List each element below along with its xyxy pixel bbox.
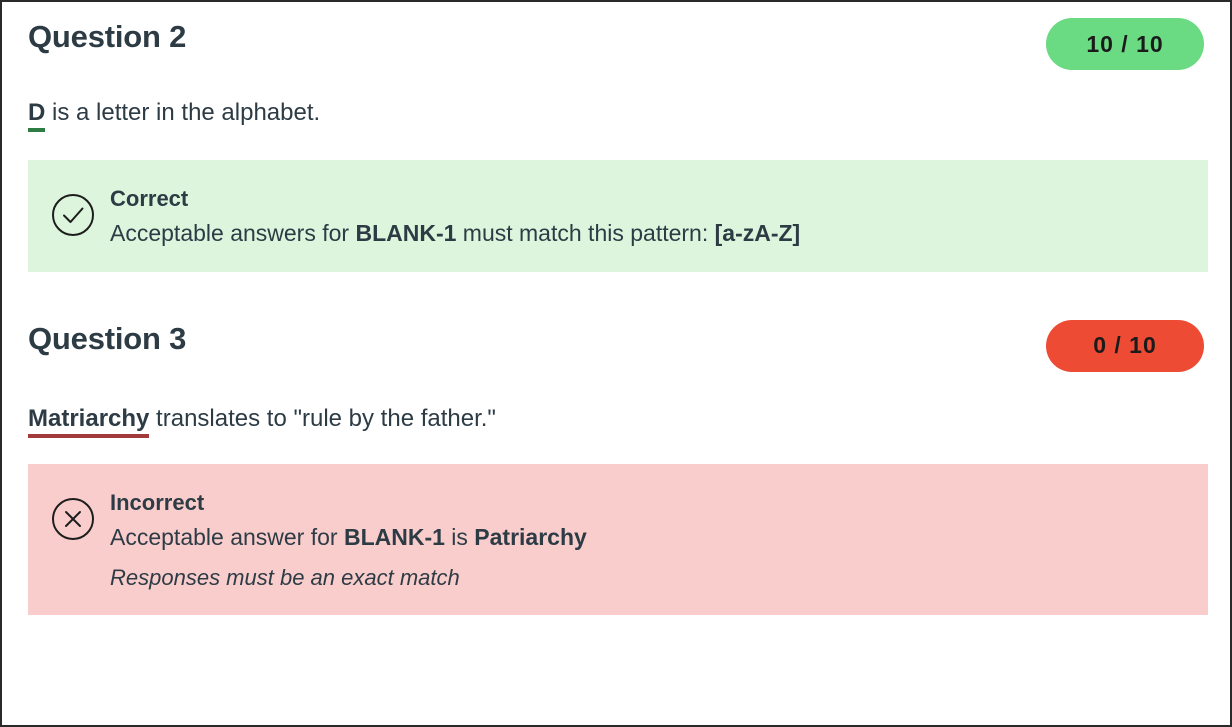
feedback-text-correct: Acceptable answers for BLANK-1 must matc… [110,217,1188,250]
feedback-blank-label-correct: BLANK-1 [355,220,456,246]
feedback-body-correct: Correct Acceptable answers for BLANK-1 m… [110,182,1188,250]
question-header-2: Question 2 10 / 10 [28,2,1204,70]
question-answer-text-2: is a letter in the alphabet. [45,99,320,126]
question-block-2: Question 2 10 / 10 D is a letter in the … [28,2,1204,272]
student-answer-blank-2: D [28,99,45,132]
question-header-3: Question 3 0 / 10 [28,320,1204,372]
feedback-body-incorrect: Incorrect Acceptable answer for BLANK-1 … [110,486,1188,594]
quiz-content: Question 2 10 / 10 D is a letter in the … [2,2,1230,615]
question-answer-3: Matriarchy translates to "rule by the fa… [28,402,1204,436]
student-answer-blank-3: Matriarchy [28,405,149,438]
quiz-results-page: Question 2 10 / 10 D is a letter in the … [0,0,1232,727]
question-block-3: Question 3 0 / 10 Matriarchy translates … [28,320,1204,615]
feedback-text-middle-incorrect: is [445,524,474,550]
x-circle-icon [50,496,96,542]
feedback-blank-label-incorrect: BLANK-1 [344,524,445,550]
feedback-title-incorrect: Incorrect [110,488,1188,518]
score-badge-question-2: 10 / 10 [1046,18,1204,70]
score-badge-question-3: 0 / 10 [1046,320,1204,372]
feedback-title-correct: Correct [110,184,1188,214]
question-title-3: Question 3 [28,320,186,357]
feedback-panel-incorrect: Incorrect Acceptable answer for BLANK-1 … [28,464,1208,616]
check-circle-icon [50,192,96,238]
question-answer-text-3: translates to "rule by the father." [149,405,496,432]
feedback-note-incorrect: Responses must be an exact match [110,562,1188,593]
feedback-correct-answer-value: Patriarchy [474,524,587,550]
feedback-text-middle-correct: must match this pattern: [456,220,714,246]
feedback-text-incorrect: Acceptable answer for BLANK-1 is Patriar… [110,521,1188,554]
feedback-pattern-value-correct: [a-zA-Z] [715,220,801,246]
feedback-panel-correct: Correct Acceptable answers for BLANK-1 m… [28,160,1208,272]
question-answer-2: D is a letter in the alphabet. [28,96,1204,130]
feedback-text-prefix-correct: Acceptable answers for [110,220,355,246]
question-title-2: Question 2 [28,18,186,55]
feedback-text-prefix-incorrect: Acceptable answer for [110,524,344,550]
